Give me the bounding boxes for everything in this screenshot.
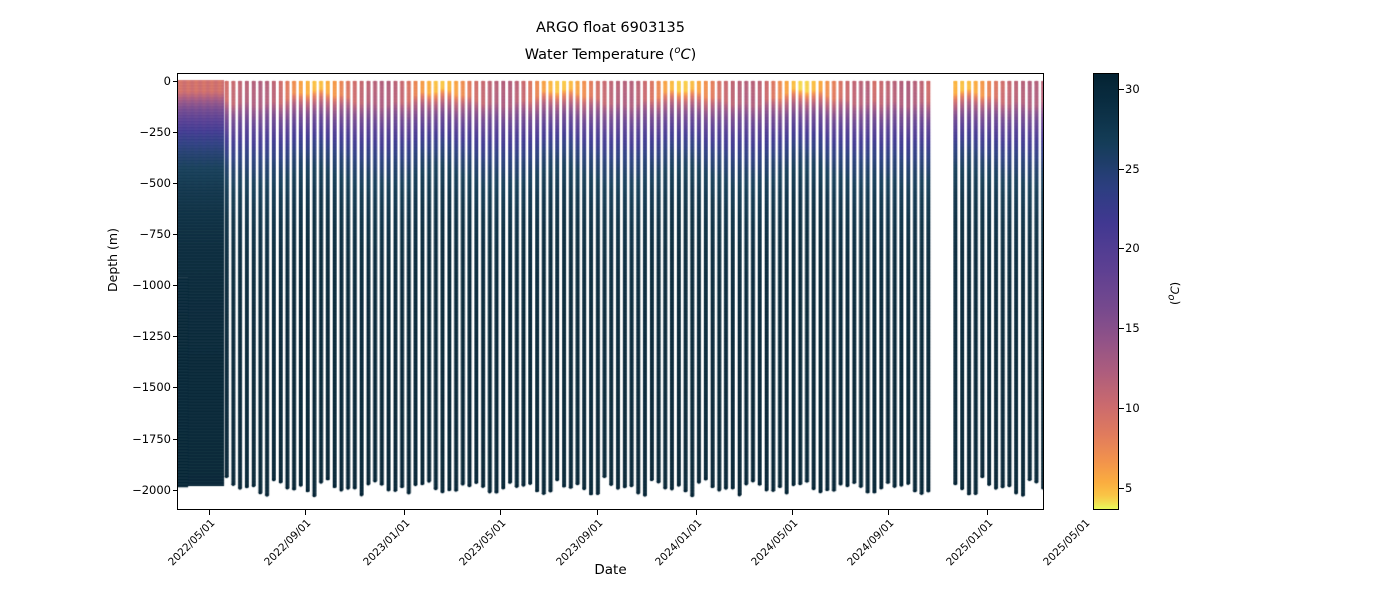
colorbar-tick-mark: [1119, 89, 1124, 90]
x-axis-tick-mark: [404, 510, 405, 515]
x-axis-tick-mark: [888, 510, 889, 515]
colorbar-tick-label: 30: [1125, 82, 1140, 96]
y-axis-tick-label: −1000: [132, 278, 171, 292]
x-axis-tick-mark: [500, 510, 501, 515]
colorbar-unit-pre: (: [1168, 301, 1182, 306]
y-axis-tick-mark: [173, 132, 178, 133]
colorbar-tick-mark: [1119, 248, 1124, 249]
colorbar-tick-mark: [1119, 169, 1124, 170]
chart-title-line-2: Water Temperature (oC): [0, 45, 1221, 63]
y-axis-tick-mark: [173, 490, 178, 491]
y-axis-tick-mark: [173, 336, 178, 337]
y-axis-tick-label: −500: [139, 176, 171, 190]
colorbar-tick-mark: [1119, 488, 1124, 489]
temperature-section-plot: [178, 74, 1043, 509]
y-axis-tick-mark: [173, 439, 178, 440]
plot-axes[interactable]: [177, 73, 1044, 510]
colorbar[interactable]: [1093, 73, 1119, 510]
chart-title-line-1: ARGO float 6903135: [0, 20, 1221, 36]
y-axis-tick-mark: [173, 234, 178, 235]
colorbar-tick-label: 20: [1125, 241, 1140, 255]
y-axis-tick-label: −2000: [132, 483, 171, 497]
colorbar-tick-mark: [1119, 408, 1124, 409]
y-axis-tick-mark: [173, 81, 178, 82]
colorbar-label: (oC): [1166, 282, 1182, 305]
y-axis-tick-mark: [173, 387, 178, 388]
colorbar-tick-label: 15: [1125, 321, 1140, 335]
colorbar-unit-post: ): [1168, 282, 1182, 287]
y-axis-tick-label: −1500: [132, 380, 171, 394]
colorbar-tick-label: 10: [1125, 401, 1140, 415]
colorbar-degree-superscript: o: [1166, 294, 1177, 300]
y-axis-tick-label: −1750: [132, 432, 171, 446]
y-axis-tick-label: −250: [139, 125, 171, 139]
x-axis-tick-mark: [209, 510, 210, 515]
colorbar-gradient: [1094, 74, 1118, 509]
x-axis-tick-mark: [987, 510, 988, 515]
colorbar-tick-label: 25: [1125, 162, 1140, 176]
x-axis-tick-mark: [696, 510, 697, 515]
chart-title-unit-post: ): [691, 47, 697, 63]
chart-title-unit-pre: Water Temperature (: [525, 47, 675, 63]
y-axis-tick-label: −1250: [132, 329, 171, 343]
y-axis-label: Depth (m): [105, 228, 120, 292]
y-axis-tick-label: −750: [139, 227, 171, 241]
chart-title-unit-letter: C: [680, 47, 690, 63]
x-axis-label: Date: [0, 562, 1221, 578]
y-axis-tick-mark: [173, 183, 178, 184]
y-axis-tick-mark: [173, 285, 178, 286]
colorbar-tick-label: 5: [1125, 481, 1132, 495]
colorbar-unit-letter: C: [1168, 286, 1182, 294]
y-axis-tick-label: 0: [164, 74, 171, 88]
x-axis-tick-mark: [792, 510, 793, 515]
argo-temperature-figure: ARGO float 6903135 Water Temperature (oC…: [0, 0, 1400, 600]
x-axis-tick-mark: [597, 510, 598, 515]
x-axis-tick-mark: [305, 510, 306, 515]
colorbar-tick-mark: [1119, 328, 1124, 329]
